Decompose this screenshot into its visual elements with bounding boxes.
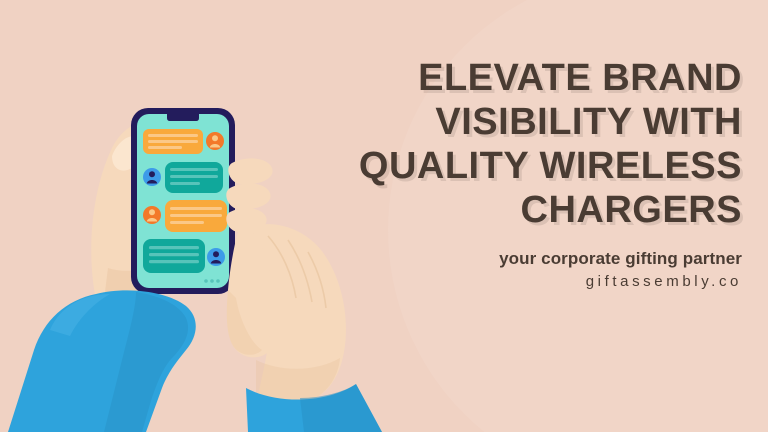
bubble-line <box>148 146 182 149</box>
avatar-blue-1 <box>143 168 161 186</box>
headline-line-1: ELEVATE BRAND <box>322 56 742 100</box>
bubble-line <box>149 260 199 263</box>
avatar-blue-2 <box>207 248 225 266</box>
bubble-line <box>148 134 198 137</box>
headline-line-3: QUALITY WIRELESS <box>322 144 742 188</box>
finger-2 <box>226 183 270 209</box>
promo-banner: ELEVATE BRAND VISIBILITY WITH QUALITY WI… <box>0 0 768 432</box>
tagline: your corporate gifting partner <box>322 249 742 269</box>
phone-notch <box>167 114 199 121</box>
bubble-line <box>170 175 218 178</box>
headline-line-2: VISIBILITY WITH <box>322 100 742 144</box>
text-block: ELEVATE BRAND VISIBILITY WITH QUALITY WI… <box>322 56 742 290</box>
bubble-line <box>149 246 199 249</box>
left-arm <box>8 290 196 432</box>
brand-domain: giftassembly.co <box>322 273 742 290</box>
smartphone <box>131 108 235 294</box>
bubble-line <box>148 140 198 143</box>
headline-line-4: CHARGERS <box>322 188 742 232</box>
bubble-line <box>170 214 222 217</box>
bubble-line <box>170 221 204 224</box>
page-title: ELEVATE BRAND VISIBILITY WITH QUALITY WI… <box>322 56 742 232</box>
avatar-orange-2 <box>143 206 161 224</box>
bubble-line <box>170 168 218 171</box>
bubble-line <box>149 253 199 256</box>
finger-1 <box>228 158 272 184</box>
typing-indicator-dots <box>204 279 220 283</box>
bubble-line <box>170 182 200 185</box>
avatar-orange-1 <box>206 132 224 150</box>
bubble-line <box>170 207 222 210</box>
